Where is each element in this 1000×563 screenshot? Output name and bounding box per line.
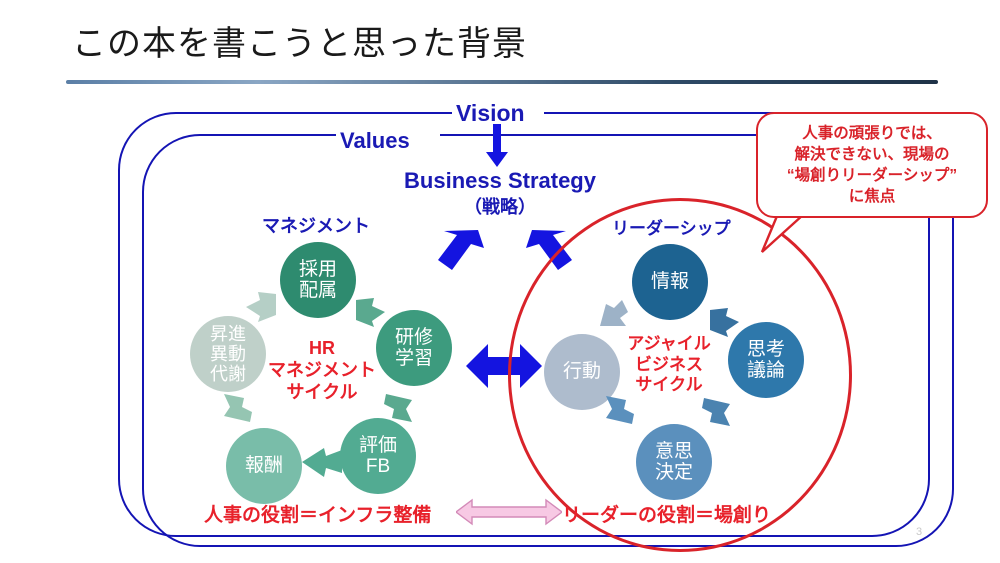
cycle-arrow-training-to-evaluation-icon: [382, 392, 416, 426]
cycle-arrow-action-to-info-icon: [596, 298, 634, 332]
cycle-arrow-recruit-to-training-icon: [352, 296, 388, 328]
cycle-arrow-info-to-thinking-icon: [706, 306, 742, 338]
leader-role-label: リーダーの役割＝場創り: [562, 500, 771, 527]
cycle-node-compensation[interactable]: 報酬: [226, 428, 302, 504]
cycle-arrow-promotion-to-recruit-icon: [242, 290, 280, 324]
vision-down-arrow-icon: [485, 124, 509, 168]
business-strategy-sublabel: （戦略）: [394, 193, 606, 219]
cycle-node-evaluation[interactable]: 評価 FB: [340, 418, 416, 494]
focus-callout-box: 人事の頑張りでは、 解決できない、現場の “場創りリーダーシップ” に焦点: [756, 112, 988, 218]
hr-cycle-center-label: HR マネジメント サイクル: [248, 338, 396, 404]
management-label: マネジメント: [262, 212, 370, 238]
hr-role-label: 人事の役割＝インフラ整備: [204, 500, 431, 527]
cycle-arrow-evaluation-to-compensation-icon: [300, 446, 344, 478]
agile-cycle-center-label: アジャイル ビジネス サイクル: [608, 334, 730, 396]
strategy-to-management-arrow-icon: [430, 226, 486, 276]
page-number: 3: [916, 526, 922, 538]
cycle-node-recruitment[interactable]: 採用 配属: [280, 242, 356, 318]
cycle-arrow-compensation-to-promotion-icon: [220, 390, 254, 424]
focus-callout-text: 人事の頑張りでは、 解決できない、現場の “場創りリーダーシップ” に焦点: [787, 123, 957, 207]
slide-canvas: この本を書こうと思った背景 Vision Values Business Str…: [0, 0, 1000, 563]
cycle-arrow-decision-to-action-icon: [600, 392, 636, 426]
business-strategy-label: Business Strategy: [394, 168, 606, 194]
cycle-arrow-thinking-to-decision-icon: [700, 396, 734, 430]
values-label: Values: [340, 128, 410, 154]
cycle-node-decision[interactable]: 意思 決定: [636, 424, 712, 500]
vision-label: Vision: [456, 100, 525, 127]
role-relation-arrow-icon: [456, 498, 562, 526]
cycle-node-information[interactable]: 情報: [632, 244, 708, 320]
title-divider: [66, 80, 938, 84]
page-title: この本を書こうと思った背景: [72, 24, 527, 64]
